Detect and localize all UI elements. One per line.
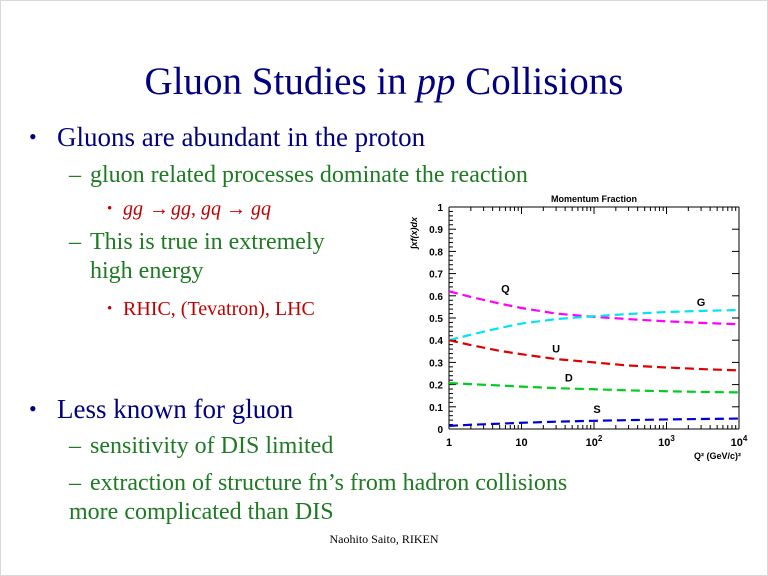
svg-text:Q: Q (501, 283, 510, 295)
bullet-marker-dash: – (69, 469, 90, 498)
bullet-this-is-true-cont: high energy (90, 257, 204, 286)
bullet-gluons-abundant: •Gluons are abundant in the proton (29, 121, 425, 153)
svg-text:0.2: 0.2 (429, 381, 443, 392)
svg-text:0.4: 0.4 (429, 336, 443, 347)
bullet-text: This is true in extremely (90, 229, 325, 255)
bullet-text: Less known for gluon (57, 394, 293, 424)
svg-text:0.6: 0.6 (429, 292, 443, 303)
bullet-marker-dot: • (107, 197, 123, 221)
bullet-gluon-related-processes: –gluon related processes dominate the re… (69, 161, 528, 190)
formula-gq-d: gq (251, 198, 271, 220)
bullet-marker-dot: • (107, 297, 123, 321)
bullet-less-known-for-gluon: •Less known for gluon (29, 393, 293, 425)
title-italic-pp: pp (416, 60, 455, 103)
svg-text:102: 102 (586, 434, 603, 449)
page-title: Gluon Studies in pp Collisions (1, 59, 767, 105)
chart-svg: 00.10.20.30.40.50.60.70.80.9111010210310… (403, 191, 767, 463)
bullet-gg-gq-processes: •gg→gg,gq→gq (107, 197, 271, 221)
svg-text:Momentum Fraction: Momentum Fraction (551, 194, 637, 204)
svg-text:103: 103 (658, 434, 675, 449)
svg-text:S: S (593, 404, 600, 416)
bullet-text: RHIC, (Tevatron), LHC (123, 298, 315, 320)
bullet-rhic-tevatron-lhc: •RHIC, (Tevatron), LHC (107, 297, 315, 321)
bullet-marker-dash: – (69, 432, 90, 461)
bullet-marker-dash: – (69, 228, 90, 257)
bullet-this-is-true: –This is true in extremely (69, 228, 325, 257)
svg-text:1: 1 (446, 437, 452, 449)
bullet-text: gluon related processes dominate the rea… (90, 162, 528, 188)
bullet-marker-dot: • (29, 121, 57, 152)
svg-text:0.1: 0.1 (429, 403, 443, 414)
svg-text:0.8: 0.8 (429, 247, 443, 258)
footer-author: Naohito Saito, RIKEN (1, 532, 767, 547)
svg-text:0: 0 (437, 425, 443, 436)
formula-gg-a: gg (123, 198, 143, 220)
formula-gg-b: gg (171, 198, 191, 220)
svg-text:Q² (GeV/c)²: Q² (GeV/c)² (694, 451, 741, 461)
svg-text:0.5: 0.5 (429, 314, 443, 325)
svg-text:0.3: 0.3 (429, 358, 443, 369)
bullet-text: extraction of structure fn’s from hadron… (69, 470, 567, 525)
bullet-extraction-structure-fns: –extraction of structure fn’s from hadro… (69, 469, 589, 527)
svg-text:D: D (565, 372, 573, 384)
title-suffix: Collisions (455, 60, 623, 103)
title-prefix: Gluon Studies in (145, 60, 417, 103)
svg-text:0.9: 0.9 (429, 225, 443, 236)
bullet-text: Gluons are abundant in the proton (57, 122, 425, 152)
momentum-fraction-chart: 00.10.20.30.40.50.60.70.80.9111010210310… (403, 191, 767, 463)
bullet-text: sensitivity of DIS limited (90, 433, 333, 459)
svg-text:104: 104 (731, 434, 748, 449)
formula-arrow-1: → (149, 198, 169, 220)
formula-comma: , (191, 198, 196, 220)
bullet-sensitivity-dis: –sensitivity of DIS limited (69, 432, 333, 461)
svg-text:10: 10 (515, 437, 527, 449)
slide-canvas: Gluon Studies in pp Collisions •Gluons a… (0, 0, 768, 576)
svg-text:G: G (697, 297, 706, 309)
formula-gq-c: gq (201, 198, 221, 220)
svg-text:∫xf(x)dx: ∫xf(x)dx (409, 216, 419, 250)
svg-text:1: 1 (437, 203, 443, 214)
bullet-marker-dot: • (29, 393, 57, 424)
svg-text:U: U (552, 343, 560, 355)
svg-text:0.7: 0.7 (429, 270, 443, 281)
bullet-marker-dash: – (69, 161, 90, 190)
formula-arrow-2: → (226, 198, 246, 220)
